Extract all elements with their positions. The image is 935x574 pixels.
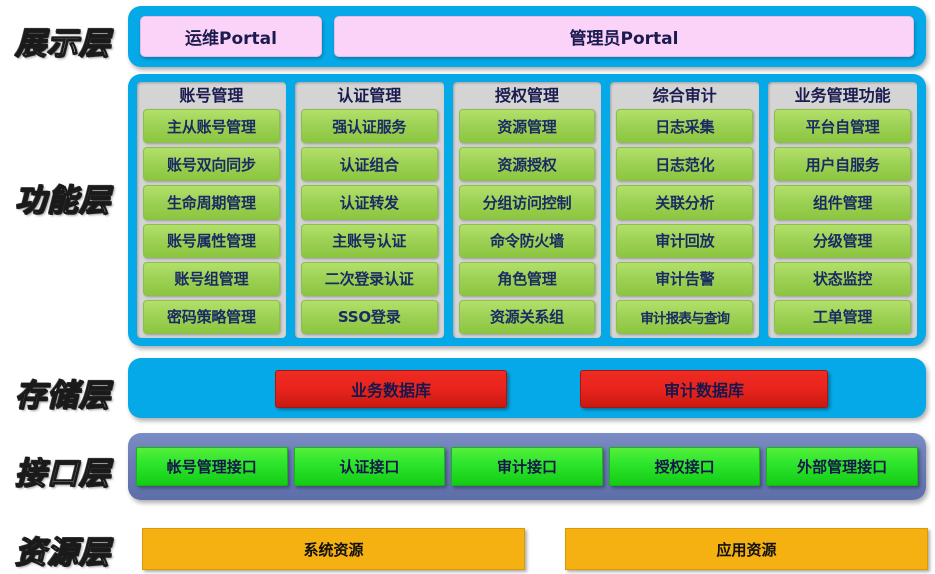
function-item[interactable]: 强认证服务 bbox=[301, 109, 438, 143]
portal-ops[interactable]: 运维Portal bbox=[140, 16, 322, 57]
function-item[interactable]: 工单管理 bbox=[774, 300, 911, 334]
function-item[interactable]: 认证转发 bbox=[301, 185, 438, 219]
interface-item-authorization[interactable]: 授权接口 bbox=[609, 447, 761, 486]
function-columns: 账号管理 主从账号管理 账号双向同步 生命周期管理 账号属性管理 账号组管理 密… bbox=[137, 82, 917, 338]
function-item[interactable]: 状态监控 bbox=[774, 262, 911, 296]
function-item[interactable]: 账号属性管理 bbox=[143, 224, 280, 258]
function-item[interactable]: 密码策略管理 bbox=[143, 300, 280, 334]
interface-item-account[interactable]: 帐号管理接口 bbox=[136, 447, 288, 486]
resource-layer-row: 系统资源 应用资源 bbox=[128, 528, 926, 568]
function-column-account: 账号管理 主从账号管理 账号双向同步 生命周期管理 账号属性管理 账号组管理 密… bbox=[137, 82, 286, 338]
portal-row: 运维Portal 管理员Portal bbox=[140, 16, 914, 57]
function-column-title: 授权管理 bbox=[459, 84, 596, 109]
resource-application[interactable]: 应用资源 bbox=[565, 528, 928, 570]
function-item[interactable]: 主从账号管理 bbox=[143, 109, 280, 143]
interface-layer-band: 帐号管理接口 认证接口 审计接口 授权接口 外部管理接口 bbox=[128, 433, 926, 500]
function-item[interactable]: 账号组管理 bbox=[143, 262, 280, 296]
function-item[interactable]: 审计告警 bbox=[616, 262, 753, 296]
layer-title-resource: 资源层 bbox=[0, 527, 126, 572]
function-column-title: 认证管理 bbox=[301, 84, 438, 109]
function-column-title: 综合审计 bbox=[616, 84, 753, 109]
function-column-audit: 综合审计 日志采集 日志范化 关联分析 审计回放 审计告警 审计报表与查询 bbox=[610, 82, 759, 338]
storage-layer-band: 业务数据库 审计数据库 bbox=[128, 358, 926, 418]
interface-item-authentication[interactable]: 认证接口 bbox=[294, 447, 446, 486]
database-row: 业务数据库 审计数据库 bbox=[128, 358, 926, 418]
interface-item-external[interactable]: 外部管理接口 bbox=[766, 447, 918, 486]
function-item[interactable]: 二次登录认证 bbox=[301, 262, 438, 296]
function-item[interactable]: 审计报表与查询 bbox=[616, 300, 753, 334]
function-item[interactable]: 资源授权 bbox=[459, 147, 596, 181]
function-item[interactable]: 组件管理 bbox=[774, 185, 911, 219]
layer-title-function: 功能层 bbox=[0, 175, 126, 220]
layer-title-presentation: 展示层 bbox=[0, 18, 126, 63]
portal-admin[interactable]: 管理员Portal bbox=[334, 16, 914, 57]
function-item[interactable]: 命令防火墙 bbox=[459, 224, 596, 258]
function-column-authentication: 认证管理 强认证服务 认证组合 认证转发 主账号认证 二次登录认证 SSO登录 bbox=[295, 82, 444, 338]
layer-title-storage: 存储层 bbox=[0, 370, 126, 415]
interface-row: 帐号管理接口 认证接口 审计接口 授权接口 外部管理接口 bbox=[136, 447, 918, 486]
function-item[interactable]: 审计回放 bbox=[616, 224, 753, 258]
function-item[interactable]: 生命周期管理 bbox=[143, 185, 280, 219]
function-column-title: 业务管理功能 bbox=[774, 84, 911, 109]
function-item[interactable]: 日志采集 bbox=[616, 109, 753, 143]
function-column-business: 业务管理功能 平台自管理 用户自服务 组件管理 分级管理 状态监控 工单管理 bbox=[768, 82, 917, 338]
function-item[interactable]: 账号双向同步 bbox=[143, 147, 280, 181]
function-item[interactable]: 分级管理 bbox=[774, 224, 911, 258]
function-item[interactable]: 认证组合 bbox=[301, 147, 438, 181]
function-layer-band: 账号管理 主从账号管理 账号双向同步 生命周期管理 账号属性管理 账号组管理 密… bbox=[128, 74, 926, 346]
interface-item-audit[interactable]: 审计接口 bbox=[451, 447, 603, 486]
function-item[interactable]: 资源关系组 bbox=[459, 300, 596, 334]
function-item[interactable]: 角色管理 bbox=[459, 262, 596, 296]
database-business[interactable]: 业务数据库 bbox=[275, 370, 507, 408]
resource-system[interactable]: 系统资源 bbox=[142, 528, 525, 570]
function-item[interactable]: SSO登录 bbox=[301, 300, 438, 334]
function-item[interactable]: 分组访问控制 bbox=[459, 185, 596, 219]
function-item[interactable]: 日志范化 bbox=[616, 147, 753, 181]
layer-title-interface: 接口层 bbox=[0, 448, 126, 493]
function-item[interactable]: 资源管理 bbox=[459, 109, 596, 143]
database-audit[interactable]: 审计数据库 bbox=[580, 370, 828, 408]
function-column-title: 账号管理 bbox=[143, 84, 280, 109]
function-item[interactable]: 主账号认证 bbox=[301, 224, 438, 258]
function-column-authorization: 授权管理 资源管理 资源授权 分组访问控制 命令防火墙 角色管理 资源关系组 bbox=[453, 82, 602, 338]
function-item[interactable]: 用户自服务 bbox=[774, 147, 911, 181]
function-item[interactable]: 平台自管理 bbox=[774, 109, 911, 143]
function-item[interactable]: 关联分析 bbox=[616, 185, 753, 219]
presentation-layer-band: 运维Portal 管理员Portal bbox=[128, 6, 926, 67]
